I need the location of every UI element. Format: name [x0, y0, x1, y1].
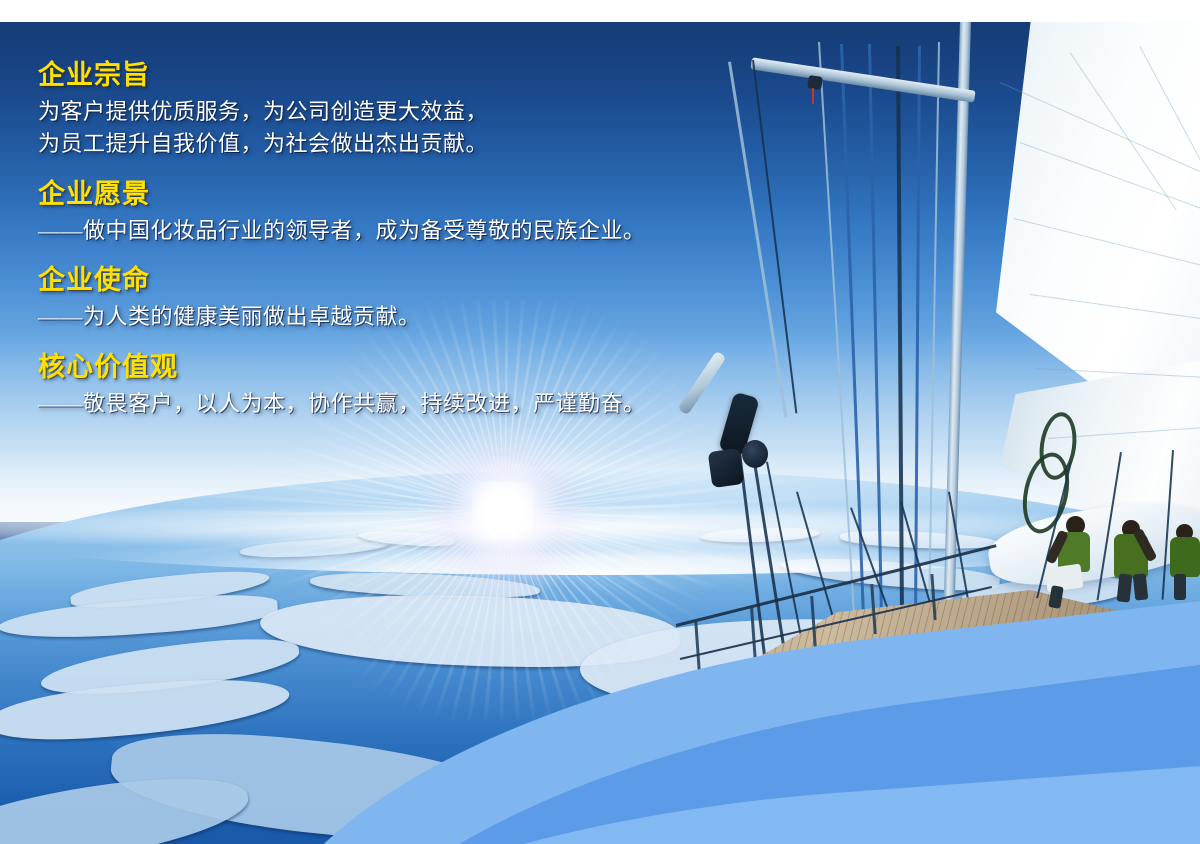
section-line: ——做中国化妆品行业的领导者，成为备受尊敬的民族企业。 [38, 215, 760, 248]
section-vision: 企业愿景 ——做中国化妆品行业的领导者，成为备受尊敬的民族企业。 [38, 179, 760, 247]
crew-leg [1117, 573, 1133, 602]
section-line: ——为人类的健康美丽做出卓越贡献。 [38, 301, 760, 334]
section-line: 为客户提供优质服务，为公司创造更大效益， [38, 96, 760, 129]
section-mission: 企业使命 ——为人类的健康美丽做出卓越贡献。 [38, 265, 760, 333]
boom [750, 57, 975, 102]
crew-member [1106, 520, 1160, 606]
stanchion [750, 608, 757, 662]
crew-leg [1133, 573, 1149, 600]
corporate-culture-text: 企业宗旨 为客户提供优质服务，为公司创造更大效益， 为员工提升自我价值，为社会做… [0, 22, 760, 462]
crew-member [1164, 524, 1200, 604]
section-line: ——敬畏客户，以人为本，协作共赢，持续改进，严谨勤奋。 [38, 388, 760, 421]
section-heading: 企业愿景 [38, 179, 760, 211]
section-heading: 企业使命 [38, 265, 760, 297]
top-white-bar [0, 0, 1200, 22]
boom-telltale [812, 88, 814, 104]
section-heading: 核心价值观 [38, 352, 760, 384]
stanchion [694, 620, 701, 672]
banner-image: 企业宗旨 为客户提供优质服务，为公司创造更大效益， 为员工提升自我价值，为社会做… [0, 0, 1200, 844]
section-core-values: 核心价值观 ——敬畏客户，以人为本，协作共赢，持续改进，严谨勤奋。 [38, 352, 760, 420]
mast [944, 22, 971, 602]
section-heading: 企业宗旨 [38, 60, 760, 92]
rigging-line [840, 44, 866, 644]
crew-leg [1174, 574, 1186, 600]
rigging-line [928, 42, 940, 632]
sun-hotspot [472, 482, 534, 540]
section-purpose: 企业宗旨 为客户提供优质服务，为公司创造更大效益， 为员工提升自我价值，为社会做… [38, 60, 760, 161]
crew-torso [1170, 537, 1200, 577]
rigging-line [896, 46, 904, 646]
section-line: 为员工提升自我价值，为社会做出杰出贡献。 [38, 128, 760, 161]
boom-fitting [807, 75, 823, 90]
crew-leg [1048, 585, 1064, 609]
